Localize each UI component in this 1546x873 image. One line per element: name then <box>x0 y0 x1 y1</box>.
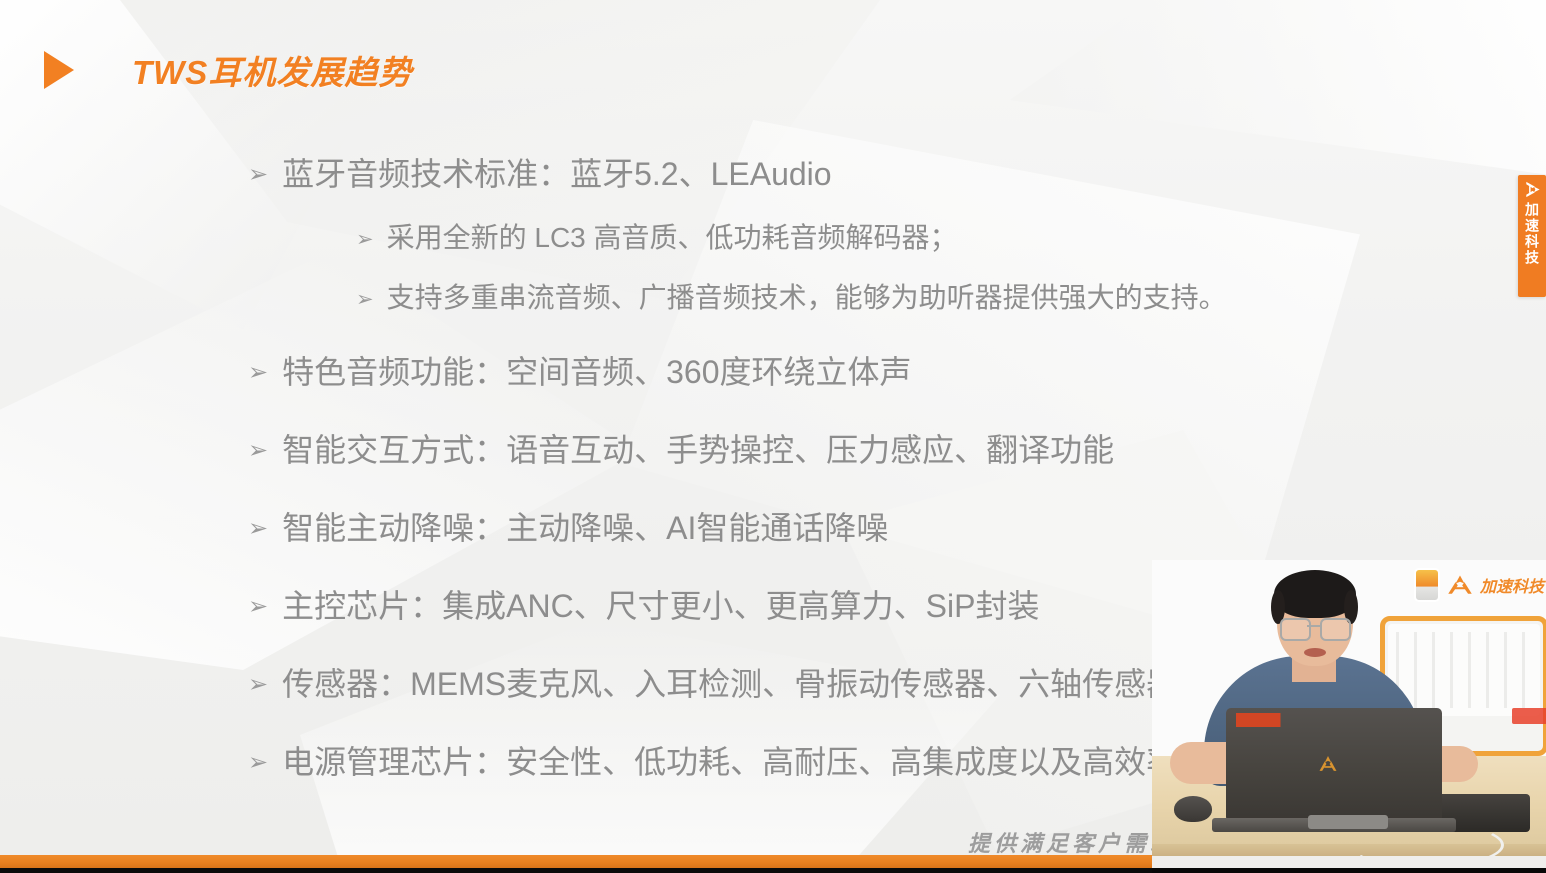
bullet-item: ➢ 采用全新的 LC3 高音质、低功耗音频解码器； <box>248 224 1368 252</box>
spacer <box>248 404 1368 434</box>
side-brand-tab-label: 加速科技 <box>1525 202 1539 266</box>
bullet-arrow-icon: ➢ <box>248 163 268 187</box>
bullet-arrow-icon: ➢ <box>248 751 268 775</box>
slide-footer-note: 提供满足客户需求 <box>968 826 1176 858</box>
bullet-item: ➢ 蓝牙音频技术标准：蓝牙5.2、LEAudio <box>248 158 1368 190</box>
bullet-text: 智能主动降噪：主动降噪、AI智能通话降噪 <box>282 512 888 544</box>
bullet-arrow-icon: ➢ <box>248 439 268 463</box>
bullet-text: 传感器：MEMS麦克风、入耳检测、骨振动传感器、六轴传感器 <box>282 668 1178 700</box>
presenter-mouth <box>1304 648 1326 657</box>
slide-title: TWS耳机发展趋势 <box>132 46 412 94</box>
slide-title-row: TWS耳机发展趋势 <box>44 46 412 94</box>
computer-mouse <box>1174 796 1212 822</box>
presenter-video-overlay[interactable]: 加速科技 <box>1152 560 1546 873</box>
bullet-text: 主控芯片：集成ANC、尺寸更小、更高算力、SiP封装 <box>282 590 1039 622</box>
spacer <box>248 482 1368 512</box>
video-brand-lockup: 加速科技 <box>1414 568 1544 602</box>
bullet-arrow-icon: ➢ <box>248 517 268 541</box>
bullet-text: 采用全新的 LC3 高音质、低功耗音频解码器； <box>387 224 958 252</box>
floor-strip <box>1152 856 1546 868</box>
test-equipment-badge <box>1512 708 1546 724</box>
spacer <box>248 326 1368 356</box>
side-brand-tab[interactable]: 加速科技 <box>1518 175 1546 297</box>
laptop-sticker <box>1236 713 1308 727</box>
bullet-text: 智能交互方式：语音互动、手势操控、压力感应、翻译功能 <box>282 434 1114 466</box>
bullet-arrow-icon: ➢ <box>356 289 374 310</box>
presenter-glasses-lens <box>1280 618 1311 641</box>
bullet-text: 蓝牙音频技术标准：蓝牙5.2、LEAudio <box>282 158 831 190</box>
company-logo-icon <box>1445 574 1475 596</box>
bullet-item: ➢ 支持多重串流音频、广播音频技术，能够为助听器提供强大的支持。 <box>248 284 1368 312</box>
company-logo-icon <box>1524 180 1541 199</box>
video-bottom-letterbox <box>1152 868 1546 873</box>
presentation-screen: TWS耳机发展趋势 ➢ 蓝牙音频技术标准：蓝牙5.2、LEAudio ➢ 采用全… <box>0 0 1546 873</box>
bullet-arrow-icon: ➢ <box>356 229 374 250</box>
bullet-text: 电源管理芯片：安全性、低功耗、高耐压、高集成度以及高效率 <box>282 746 1178 778</box>
bullet-text: 特色音频功能：空间音频、360度环绕立体声 <box>282 356 911 388</box>
bullet-arrow-icon: ➢ <box>248 595 268 619</box>
bullet-arrow-icon: ➢ <box>248 361 268 385</box>
bullet-item: ➢ 特色音频功能：空间音频、360度环绕立体声 <box>248 356 1368 388</box>
mascot-icon <box>1414 568 1440 602</box>
triangle-bullet-icon <box>44 51 74 89</box>
video-brand-label: 加速科技 <box>1480 573 1544 597</box>
bullet-arrow-icon: ➢ <box>248 673 268 697</box>
bullet-text: 支持多重串流音频、广播音频技术，能够为助听器提供强大的支持。 <box>387 284 1227 312</box>
bullet-item: ➢ 智能交互方式：语音互动、手势操控、压力感应、翻译功能 <box>248 434 1368 466</box>
presenter-glasses-lens <box>1320 618 1351 641</box>
bullet-item: ➢ 智能主动降噪：主动降噪、AI智能通话降噪 <box>248 512 1368 544</box>
laptop-logo-icon <box>1317 755 1339 773</box>
presenter-glasses-bridge <box>1307 625 1320 627</box>
test-equipment-slots <box>1396 632 1532 708</box>
